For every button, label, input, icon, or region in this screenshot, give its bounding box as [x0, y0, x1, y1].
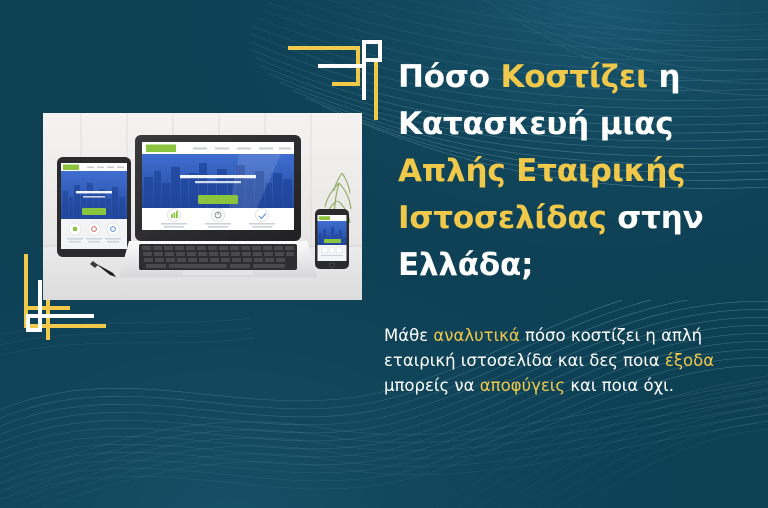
corner-bracket-top-decoration: [288, 40, 384, 120]
subtitle-seg: και ποια όχι.: [565, 376, 674, 395]
headline-seg: Κατασκευή μιας: [398, 106, 673, 142]
subtitle-seg-highlight: αναλυτικά: [433, 326, 519, 345]
headline-line-2: Κατασκευή μιας: [398, 101, 742, 148]
headline-seg: στην: [607, 200, 704, 236]
headline-seg: Πόσο: [398, 59, 500, 95]
headline-line-5: Ελλάδα;: [398, 242, 742, 289]
headline-seg-highlight: Ιστοσελίδας: [398, 200, 607, 236]
page-title: Πόσο Κοστίζει η Κατασκευή μιας Απλής Ετα…: [398, 54, 742, 289]
subtitle-seg: Μάθε: [384, 326, 433, 345]
subtitle-seg-highlight: έξοδα: [665, 351, 714, 370]
headline-seg: Ελλάδα;: [398, 247, 533, 283]
headline-line-3: Απλής Εταιρικής: [398, 148, 742, 195]
subtitle-seg-highlight: αποφύγεις: [480, 376, 565, 395]
headline-line-1: Πόσο Κοστίζει η: [398, 54, 742, 101]
headline-seg-highlight: Κοστίζει: [500, 59, 647, 95]
subtitle-seg: μπορείς να: [384, 376, 480, 395]
headline-line-4: Ιστοσελίδας στην: [398, 195, 742, 242]
headline-seg-highlight: Απλής Εταιρικής: [398, 153, 685, 189]
device-mockup-photo: Responsive web design device mockup: lap…: [43, 113, 362, 300]
headline-block: Πόσο Κοστίζει η Κατασκευή μιας Απλής Ετα…: [398, 54, 742, 289]
poster-canvas: Responsive web design device mockup: lap…: [0, 0, 768, 508]
subtitle-paragraph: Μάθε αναλυτικά πόσο κοστίζει η απλή εται…: [384, 323, 740, 398]
headline-seg: η: [648, 59, 680, 95]
